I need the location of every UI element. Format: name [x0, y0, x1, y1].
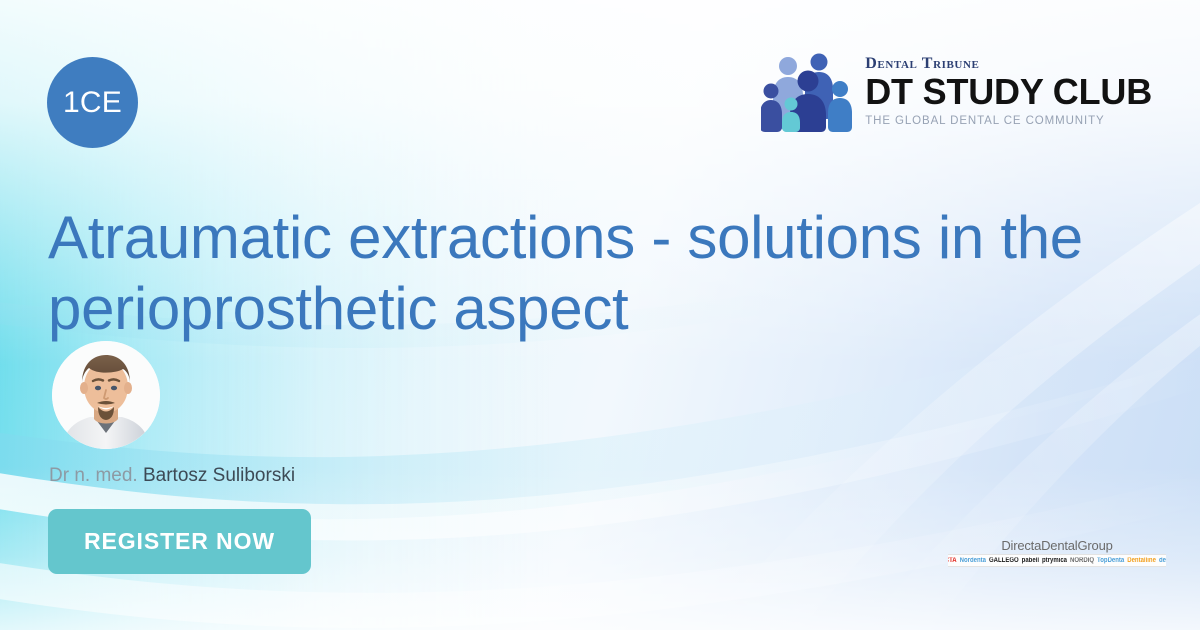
sponsor-brand-item: dental.IT — [1159, 557, 1166, 564]
sponsor-brand-item: Nordenta — [960, 557, 986, 564]
webinar-title: Atraumatic extractions - solutions in th… — [48, 203, 1158, 345]
speaker-full-name: Bartosz Suliborski — [143, 465, 295, 486]
speaker-avatar — [52, 341, 160, 449]
dt-study-club-people-icon — [761, 52, 853, 132]
register-now-button[interactable]: REGISTER NOW — [48, 509, 311, 574]
sponsor-brand-item: ptrymica — [1042, 557, 1067, 564]
dt-study-club-label: DT STUDY CLUB — [865, 74, 1152, 111]
sponsor-brand-strip: DIRECTANordentaGALLEGOpabellptrymicaNORD… — [948, 554, 1166, 567]
dt-study-club-logo: Dental Tribune DT STUDY CLUB THE GLOBAL … — [761, 52, 1152, 132]
dt-study-club-tagline: THE GLOBAL DENTAL CE COMMUNITY — [865, 114, 1104, 129]
ce-credits-label: 1CE — [63, 88, 122, 118]
sponsor-brand-item: Dentalline — [1127, 557, 1156, 564]
speaker-name-line: Dr n. med. Bartosz Suliborski — [49, 465, 295, 488]
ce-credits-badge: 1CE — [47, 57, 138, 148]
speaker-title-prefix: Dr n. med. — [49, 465, 138, 486]
sponsor-brand-item: TopDenta — [1097, 557, 1124, 564]
webinar-promo-banner: 1CE — [0, 0, 1200, 630]
sponsor-brand-item: NORDIQ — [1070, 557, 1094, 564]
sponsor-logo: DirectaDentalGroup DIRECTANordentaGALLEG… — [948, 539, 1166, 567]
sponsor-name: DirectaDentalGroup — [1001, 539, 1112, 553]
sponsor-brand-item: GALLEGO — [989, 557, 1019, 564]
sponsor-brand-item: pabell — [1022, 557, 1039, 564]
sponsor-brand-item: DIRECTA — [948, 557, 957, 564]
